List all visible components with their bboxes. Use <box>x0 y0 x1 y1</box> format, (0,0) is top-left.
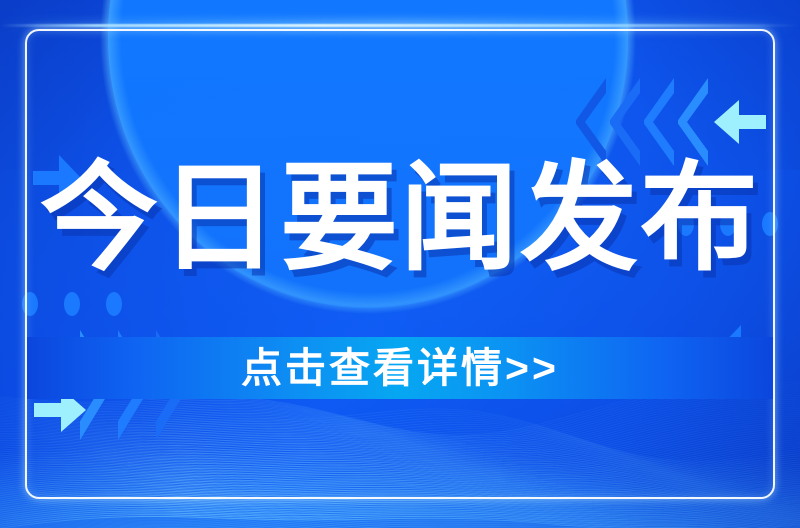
headline-title: 今日要闻发布 <box>0 160 800 278</box>
news-promo-banner: 今日要闻发布 点击查看详情>> <box>0 0 800 528</box>
cta-label[interactable]: 点击查看详情>> <box>0 345 800 391</box>
top-light-line <box>0 24 800 27</box>
